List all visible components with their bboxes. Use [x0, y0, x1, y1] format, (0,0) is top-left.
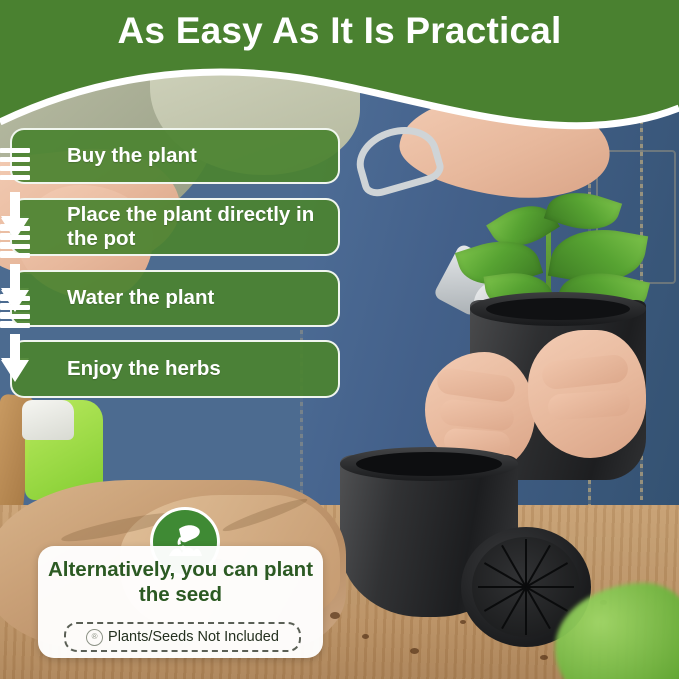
step-item-3[interactable]: Water the plant: [10, 270, 340, 327]
ladder-bars-icon: [0, 148, 30, 180]
ladder-bars-icon: [0, 226, 30, 258]
ladder-bars-icon: [0, 296, 30, 328]
steps-list: Buy the plant Place the plant directly i…: [0, 0, 350, 410]
step-label: Enjoy the herbs: [67, 357, 221, 381]
held-pot-interior: [486, 298, 630, 320]
down-arrow-icon: [0, 338, 30, 384]
pot-interior: [356, 452, 502, 476]
disclaimer-text: Plants/Seeds Not Included: [108, 629, 279, 645]
registered-trademark-icon: ®: [86, 629, 103, 646]
alternative-method-card: Alternatively, you can plant the seed ® …: [38, 546, 323, 658]
disclaimer-badge: ® Plants/Seeds Not Included: [64, 622, 301, 652]
step-label: Water the plant: [67, 286, 214, 310]
step-item-2[interactable]: Place the plant directly in the pot: [10, 198, 340, 256]
card-title: Alternatively, you can plant the seed: [38, 558, 323, 607]
step-label: Buy the plant: [67, 144, 197, 168]
step-item-4[interactable]: Enjoy the herbs: [10, 340, 340, 398]
step-item-1[interactable]: Buy the plant: [10, 128, 340, 184]
step-label: Place the plant directly in the pot: [67, 203, 326, 251]
product-infographic: As Easy As It Is Practical Buy the plant…: [0, 0, 679, 679]
